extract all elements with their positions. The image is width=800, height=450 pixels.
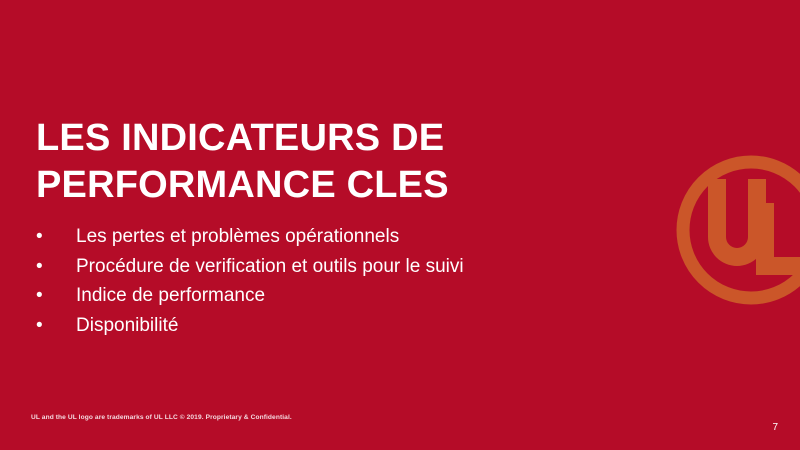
list-item-label: Disponibilité bbox=[76, 315, 178, 336]
page-number: 7 bbox=[772, 422, 778, 433]
bullet-icon: • bbox=[36, 222, 50, 252]
bullet-icon: • bbox=[36, 311, 50, 341]
page-title: LES INDICATEURS DE PERFORMANCE CLES bbox=[36, 115, 636, 209]
list-item: • Les pertes et problèmes opérationnels bbox=[36, 222, 636, 252]
list-item-label: Les pertes et problèmes opérationnels bbox=[76, 226, 399, 247]
bullet-list: • Les pertes et problèmes opérationnels … bbox=[36, 222, 636, 340]
bullet-icon: • bbox=[36, 252, 50, 282]
bullet-icon: • bbox=[36, 281, 50, 311]
list-item: • Disponibilité bbox=[36, 311, 636, 341]
list-item-label: Indice de performance bbox=[76, 285, 265, 306]
ul-logo bbox=[672, 151, 800, 309]
footer-legal-text: UL and the UL logo are trademarks of UL … bbox=[31, 413, 361, 423]
list-item: • Indice de performance bbox=[36, 281, 636, 311]
list-item-label: Procédure de verification et outils pour… bbox=[76, 256, 464, 277]
list-item: • Procédure de verification et outils po… bbox=[36, 252, 636, 282]
slide-canvas: LES INDICATEURS DE PERFORMANCE CLES • Le… bbox=[0, 0, 800, 450]
